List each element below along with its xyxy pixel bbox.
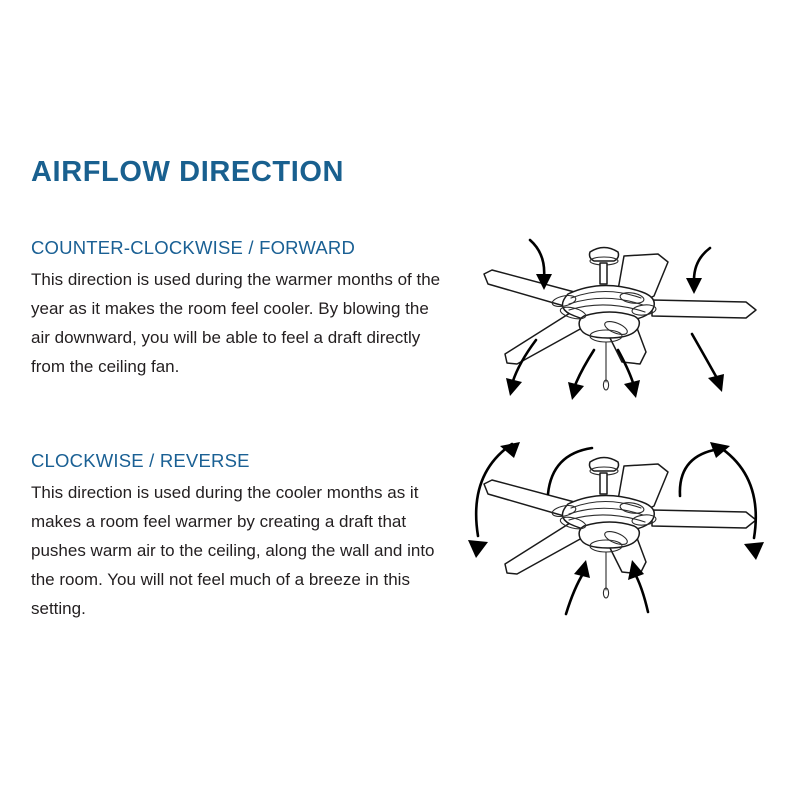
section-heading-counter-clockwise: COUNTER-CLOCKWISE / FORWARD <box>31 237 451 259</box>
ceiling-fan-forward-diagram <box>472 232 772 417</box>
airflow-arrowhead-bottom-right <box>708 374 724 392</box>
airflow-arrowhead-bottom-left-up <box>574 560 590 578</box>
fan-canopy <box>590 248 619 262</box>
airflow-arrow-bottom-right <box>692 334 718 380</box>
airflow-arrowhead-bottom-left <box>506 378 522 396</box>
fan-hub <box>579 312 639 338</box>
section-body-clockwise: This direction is used during the cooler… <box>31 478 446 623</box>
fan-blade-lower-left <box>505 523 582 574</box>
airflow-arrow-bottom-left-up <box>566 572 584 614</box>
airflow-arrowhead-bottom-center-right <box>624 380 640 398</box>
fan-downrod <box>600 473 607 494</box>
airflow-arrow-bottom-center-left <box>574 350 594 388</box>
airflow-arrowhead-top-right <box>686 278 702 294</box>
airflow-arrow-top-right <box>694 248 710 280</box>
page-title: AIRFLOW DIRECTION <box>31 157 344 189</box>
ceiling-fan-reverse-diagram <box>462 432 772 627</box>
airflow-arrow-bottom-right-up <box>634 572 648 612</box>
section-body-counter-clockwise: This direction is used during the warmer… <box>31 265 446 381</box>
fan-canopy <box>590 458 619 472</box>
airflow-arrowhead-wall-left <box>468 540 488 558</box>
airflow-arrowhead-wall-right <box>744 542 764 560</box>
fan-blade-lower-left <box>505 313 582 364</box>
airflow-arrow-top-left <box>530 240 544 278</box>
fan-hub <box>579 522 639 548</box>
fan-downrod <box>600 263 607 284</box>
section-clockwise-reverse: CLOCKWISE / REVERSE This direction is us… <box>31 450 451 623</box>
airflow-arrowhead-bottom-center-left <box>568 382 584 400</box>
fan-blade-right <box>652 300 756 318</box>
airflow-direction-page: AIRFLOW DIRECTION COUNTER-CLOCKWISE / FO… <box>0 0 800 800</box>
fan-forward-svg <box>472 232 772 417</box>
section-counter-clockwise-forward: COUNTER-CLOCKWISE / FORWARD This directi… <box>31 237 451 381</box>
airflow-arrow-ceiling-right <box>680 450 714 496</box>
fan-reverse-svg <box>462 432 772 627</box>
fan-blade-right <box>652 510 756 528</box>
airflow-arrow-ceiling-left <box>548 448 592 494</box>
section-heading-clockwise: CLOCKWISE / REVERSE <box>31 450 451 472</box>
airflow-arrowhead-ceiling-right <box>710 442 730 458</box>
